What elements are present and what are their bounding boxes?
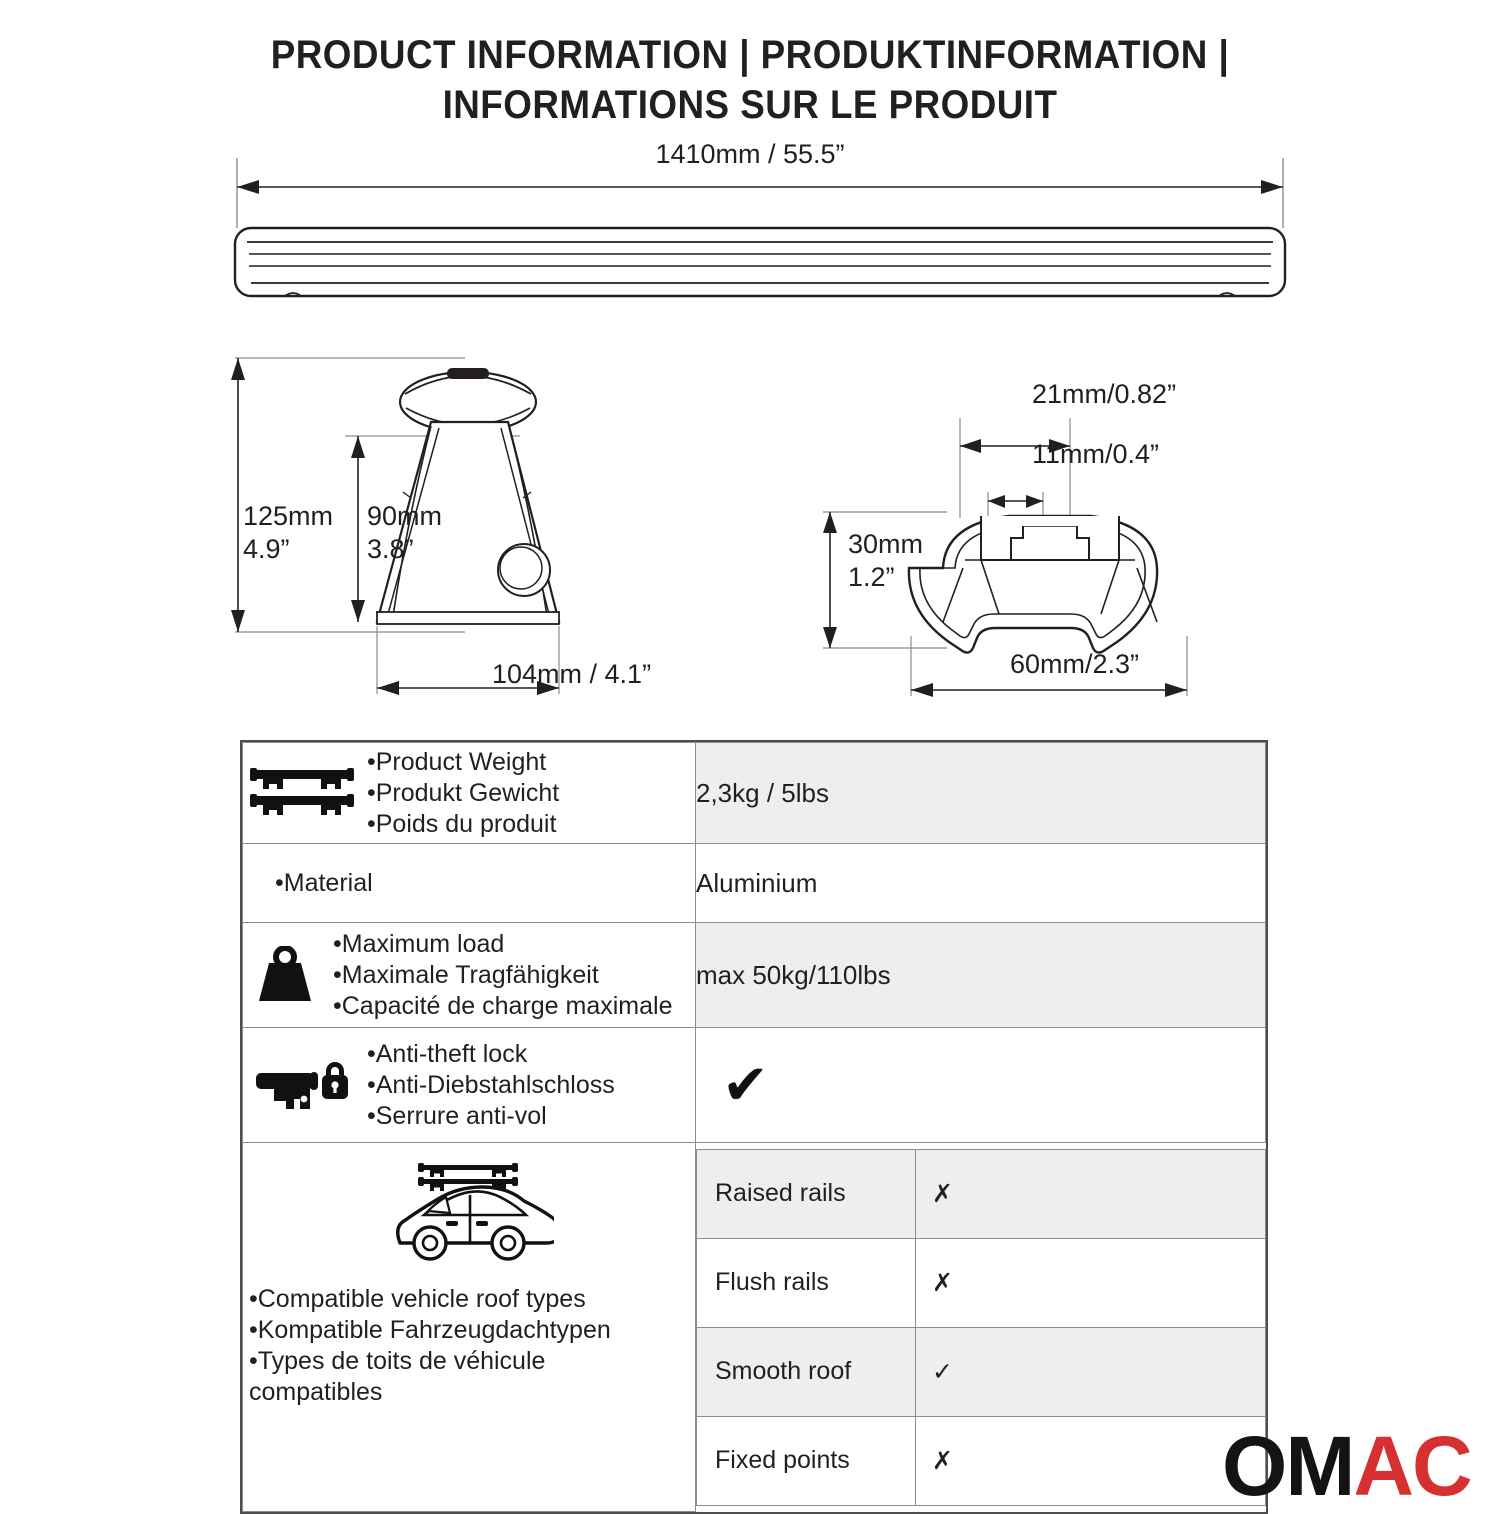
max-load-label-cell: •Maximum load •Maximale Tragfähigkeit •C… <box>243 923 696 1028</box>
lock-label-de: •Anti-Diebstahlschloss <box>367 1070 615 1101</box>
tower-inner-height-label: 90mm 3.8” <box>367 500 442 566</box>
weight-icon <box>243 946 327 1004</box>
roof-types-label-de: •Kompatible Fahrzeugdachtypen <box>249 1315 611 1346</box>
roof-type-name-fixed: Fixed points <box>697 1416 916 1505</box>
material-labels: •Material <box>243 868 373 899</box>
max-load-label-fr: •Capacité de charge maximale <box>333 991 672 1022</box>
table-row: •Compatible vehicle roof types •Kompatib… <box>243 1143 1266 1512</box>
weight-value: 2,3kg / 5lbs <box>696 743 1266 844</box>
max-load-labels: •Maximum load •Maximale Tragfähigkeit •C… <box>333 929 672 1022</box>
profile-slot-inner-label: 11mm/0.4” <box>1032 438 1159 471</box>
roof-types-label-cell: •Compatible vehicle roof types •Kompatib… <box>243 1143 696 1512</box>
lock-value-cell: ✔ <box>696 1028 1266 1143</box>
roof-type-row: Flush rails ✗ <box>697 1238 1266 1327</box>
max-load-label-en: •Maximum load <box>333 929 672 960</box>
roof-types-label-fr-cont: compatibles <box>249 1377 611 1408</box>
weight-label-de: •Produkt Gewicht <box>367 778 559 809</box>
roof-types-label-en: •Compatible vehicle roof types <box>249 1284 611 1315</box>
roof-type-mark-smooth: ✓ <box>916 1327 1266 1416</box>
roof-type-mark-raised: ✗ <box>916 1149 1266 1238</box>
bar-length-label: 1410mm / 55.5” <box>0 138 1500 171</box>
max-load-label-de: •Maximale Tragfähigkeit <box>333 960 672 991</box>
table-row: •Maximum load •Maximale Tragfähigkeit •C… <box>243 923 1266 1028</box>
lock-check-mark: ✔ <box>696 1053 769 1116</box>
roof-type-name-raised: Raised rails <box>697 1149 916 1238</box>
roof-type-row: Smooth roof ✓ <box>697 1327 1266 1416</box>
table-row: •Material Aluminium <box>243 844 1266 923</box>
material-label-cell: •Material <box>243 844 696 923</box>
page-title: PRODUCT INFORMATION | PRODUKTINFORMATION… <box>0 30 1500 130</box>
tower-width-label: 104mm / 4.1” <box>492 658 651 691</box>
max-load-value: max 50kg/110lbs <box>696 923 1266 1028</box>
roof-types-value-cell: Raised rails ✗ Flush rails ✗ Smooth roof… <box>696 1143 1266 1512</box>
tower-outer-height-label: 125mm 4.9” <box>243 500 333 566</box>
lock-labels: •Anti-theft lock •Anti-Diebstahlschloss … <box>367 1039 615 1132</box>
material-label-en: •Material <box>275 868 373 899</box>
roof-type-mark-flush: ✗ <box>916 1238 1266 1327</box>
logo-text-red: AC <box>1353 1419 1470 1513</box>
profile-slot-outer-label: 21mm/0.82” <box>1032 378 1176 411</box>
material-value: Aluminium <box>696 844 1266 923</box>
roof-types-label-fr: •Types de toits de véhicule <box>249 1346 611 1377</box>
specification-table: •Product Weight •Produkt Gewicht •Poids … <box>240 740 1268 1514</box>
weight-labels: •Product Weight •Produkt Gewicht •Poids … <box>367 747 559 840</box>
car-with-bars-icon <box>384 1159 554 1272</box>
weight-label-cell: •Product Weight •Produkt Gewicht •Poids … <box>243 743 696 844</box>
logo-text-dark: OM <box>1222 1419 1353 1513</box>
lock-label-fr: •Serrure anti-vol <box>367 1101 615 1132</box>
title-line-2: INFORMATIONS SUR LE PRODUIT <box>60 80 1440 130</box>
weight-label-fr: •Poids du produit <box>367 809 559 840</box>
roof-type-mark-fixed: ✗ <box>916 1416 1266 1505</box>
table-row: •Product Weight •Produkt Gewicht •Poids … <box>243 743 1266 844</box>
lock-label-cell: •Anti-theft lock •Anti-Diebstahlschloss … <box>243 1028 696 1143</box>
omac-logo: OMAC <box>1222 1424 1471 1508</box>
table-row: •Anti-theft lock •Anti-Diebstahlschloss … <box>243 1028 1266 1143</box>
crossbar-pair-icon <box>243 764 361 822</box>
crossbar-length-diagram <box>225 150 1295 320</box>
title-line-1: PRODUCT INFORMATION | PRODUKTINFORMATION… <box>60 30 1440 80</box>
lock-icon <box>243 1055 361 1115</box>
profile-width-label: 60mm/2.3” <box>1010 648 1139 681</box>
roof-type-row: Fixed points ✗ <box>697 1416 1266 1505</box>
roof-types-labels: •Compatible vehicle roof types •Kompatib… <box>243 1272 611 1408</box>
roof-type-name-flush: Flush rails <box>697 1238 916 1327</box>
profile-height-label: 30mm 1.2” <box>848 528 923 594</box>
roof-type-name-smooth: Smooth roof <box>697 1327 916 1416</box>
weight-label-en: •Product Weight <box>367 747 559 778</box>
lock-label-en: •Anti-theft lock <box>367 1039 615 1070</box>
roof-type-row: Raised rails ✗ <box>697 1149 1266 1238</box>
